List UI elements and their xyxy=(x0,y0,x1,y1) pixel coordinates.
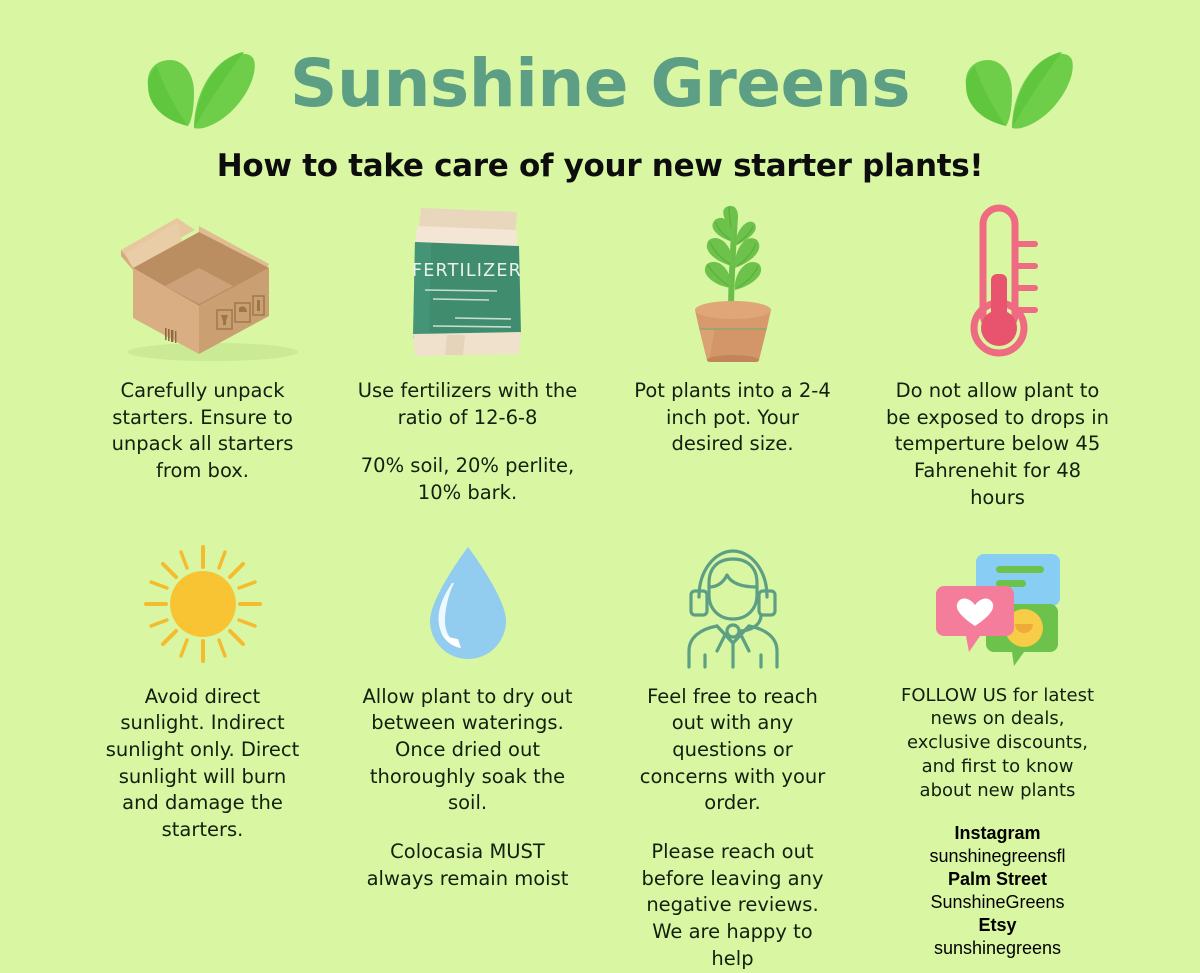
caption-paragraph: Avoid direct sunlight. Indirect sunlight… xyxy=(103,684,303,844)
caption-paragraph: Colocasia MUST always remain moist xyxy=(355,839,580,892)
social-platform-etsy: Etsy xyxy=(929,914,1065,937)
social-handle-palm-street[interactable]: SunshineGreens xyxy=(929,891,1065,914)
customer-support-icon xyxy=(673,539,793,669)
caption-paragraph: FOLLOW US for latest news on deals, excl… xyxy=(895,684,1100,803)
water-drop-icon xyxy=(416,539,520,669)
card-caption: Avoid direct sunlight. Indirect sunlight… xyxy=(103,684,303,844)
caption-paragraph: 70% soil, 20% perlite, 10% bark. xyxy=(350,453,585,506)
icon-container xyxy=(138,538,268,670)
care-card-social: FOLLOW US for latest news on deals, excl… xyxy=(865,538,1130,973)
card-caption: Carefully unpack starters. Ensure to unp… xyxy=(100,378,305,485)
caption-paragraph: Feel free to reach out with any question… xyxy=(633,684,833,818)
care-cards-row-1: Carefully unpack starters. Ensure to unp… xyxy=(0,184,1200,512)
card-caption: FOLLOW US for latest news on deals, excl… xyxy=(895,684,1100,803)
caption-paragraph: Do not allow plant to be exposed to drop… xyxy=(885,378,1110,512)
caption-paragraph: Pot plants into a 2-4 inch pot. Your des… xyxy=(633,378,833,458)
icon-container xyxy=(416,538,520,670)
care-card-watering: Allow plant to dry out between waterings… xyxy=(335,538,600,973)
icon-container xyxy=(673,538,793,670)
card-caption: Use fertilizers with the ratio of 12-6-8… xyxy=(350,378,585,507)
social-handle-instagram[interactable]: sunshinegreensfl xyxy=(929,845,1065,868)
poster-header: Sunshine Greens How to take care of your… xyxy=(0,0,1200,184)
caption-paragraph: Carefully unpack starters. Ensure to unp… xyxy=(100,378,305,485)
care-card-fertilizer: FERTILIZER Use fertilizers with the rati… xyxy=(335,202,600,512)
icon-container xyxy=(103,202,303,362)
icon-container xyxy=(663,202,803,362)
fertilizer-label: FERTILIZER xyxy=(412,261,522,281)
fertilizer-bag-icon: FERTILIZER xyxy=(393,202,543,362)
social-handle-etsy[interactable]: sunshinegreens xyxy=(929,937,1065,960)
sun-icon xyxy=(138,539,268,669)
icon-container xyxy=(928,538,1068,670)
leaf-pair-icon-left xyxy=(126,38,256,130)
chat-bubbles-icon xyxy=(928,542,1068,666)
care-card-potting: Pot plants into a 2-4 inch pot. Your des… xyxy=(600,202,865,512)
care-cards-row-2: Avoid direct sunlight. Indirect sunlight… xyxy=(0,520,1200,973)
page-title: Sunshine Greens xyxy=(286,51,914,117)
leaf-pair-icon-right xyxy=(944,38,1074,130)
page-subtitle: How to take care of your new starter pla… xyxy=(0,148,1200,184)
card-caption: Pot plants into a 2-4 inch pot. Your des… xyxy=(633,378,833,458)
care-card-temperature: Do not allow plant to be exposed to drop… xyxy=(865,202,1130,512)
icon-container xyxy=(943,202,1053,362)
care-card-unpack: Carefully unpack starters. Ensure to unp… xyxy=(70,202,335,512)
caption-paragraph: Allow plant to dry out between waterings… xyxy=(355,684,580,818)
caption-paragraph: Use fertilizers with the ratio of 12-6-8 xyxy=(350,378,585,431)
social-handles-list: Instagram sunshinegreensfl Palm Street S… xyxy=(929,822,1065,960)
potted-plant-icon xyxy=(663,202,803,362)
card-caption: Allow plant to dry out between waterings… xyxy=(355,684,580,893)
cardboard-box-icon xyxy=(103,202,303,362)
title-row: Sunshine Greens xyxy=(0,38,1200,130)
card-caption: Do not allow plant to be exposed to drop… xyxy=(885,378,1110,512)
care-card-support: Feel free to reach out with any question… xyxy=(600,538,865,973)
thermometer-icon xyxy=(943,202,1053,362)
social-platform-palm-street: Palm Street xyxy=(929,868,1065,891)
social-platform-instagram: Instagram xyxy=(929,822,1065,845)
care-card-sunlight: Avoid direct sunlight. Indirect sunlight… xyxy=(70,538,335,973)
icon-container: FERTILIZER xyxy=(393,202,543,362)
infographic-poster: Sunshine Greens How to take care of your… xyxy=(0,0,1200,927)
caption-paragraph: Please reach out before leaving any nega… xyxy=(633,839,833,973)
card-caption: Feel free to reach out with any question… xyxy=(633,684,833,973)
